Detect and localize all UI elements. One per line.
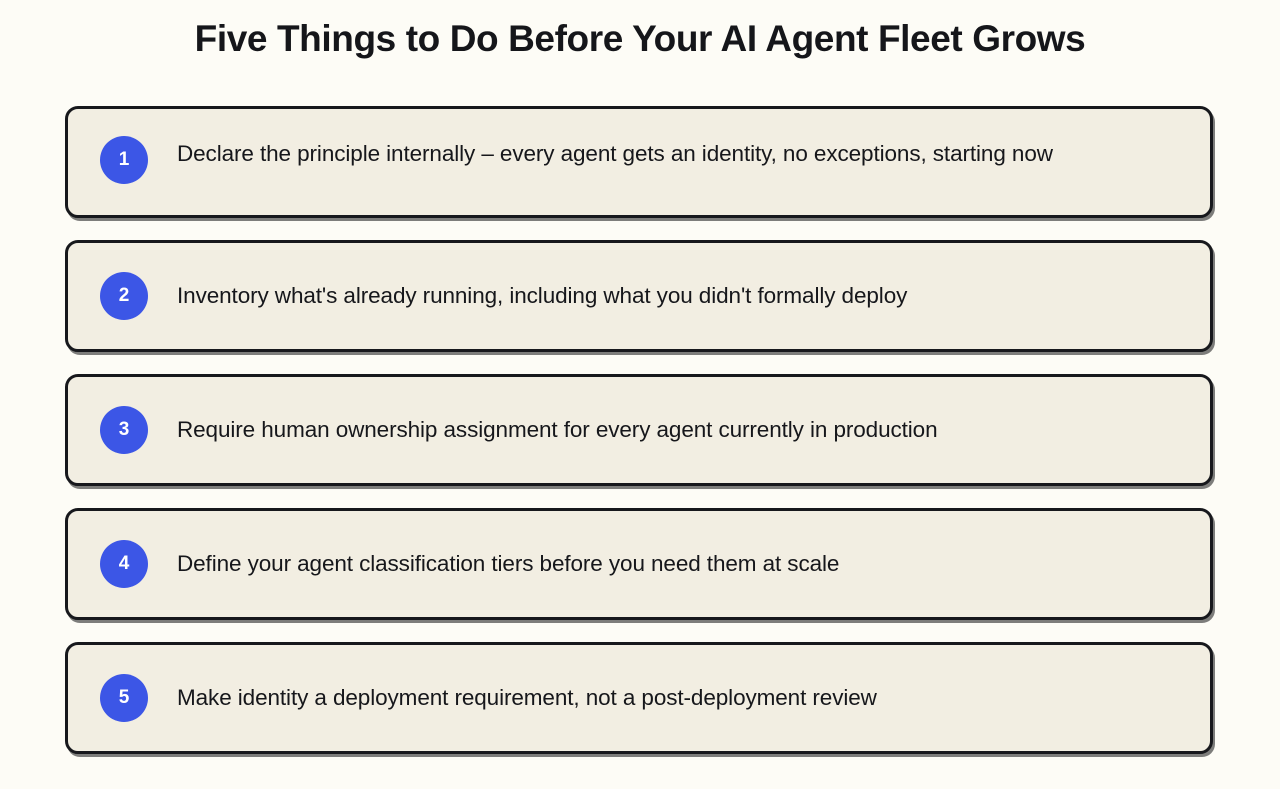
list-item: 1 Declare the principle internally – eve… [65, 106, 1213, 218]
step-text: Declare the principle internally – every… [177, 135, 1053, 172]
step-text: Make identity a deployment requirement, … [177, 683, 877, 713]
step-text: Inventory what's already running, includ… [177, 281, 907, 311]
infographic-page: Five Things to Do Before Your AI Agent F… [0, 0, 1280, 789]
steps-list: 1 Declare the principle internally – eve… [65, 106, 1213, 754]
step-number-badge: 4 [100, 540, 148, 588]
step-text: Define your agent classification tiers b… [177, 549, 839, 579]
step-number-badge: 5 [100, 674, 148, 722]
list-item: 4 Define your agent classification tiers… [65, 508, 1213, 620]
list-item: 3 Require human ownership assignment for… [65, 374, 1213, 486]
step-number-badge: 1 [100, 136, 148, 184]
step-text: Require human ownership assignment for e… [177, 415, 938, 445]
step-number-badge: 3 [100, 406, 148, 454]
step-number-badge: 2 [100, 272, 148, 320]
page-title: Five Things to Do Before Your AI Agent F… [0, 18, 1280, 60]
list-item: 2 Inventory what's already running, incl… [65, 240, 1213, 352]
list-item: 5 Make identity a deployment requirement… [65, 642, 1213, 754]
